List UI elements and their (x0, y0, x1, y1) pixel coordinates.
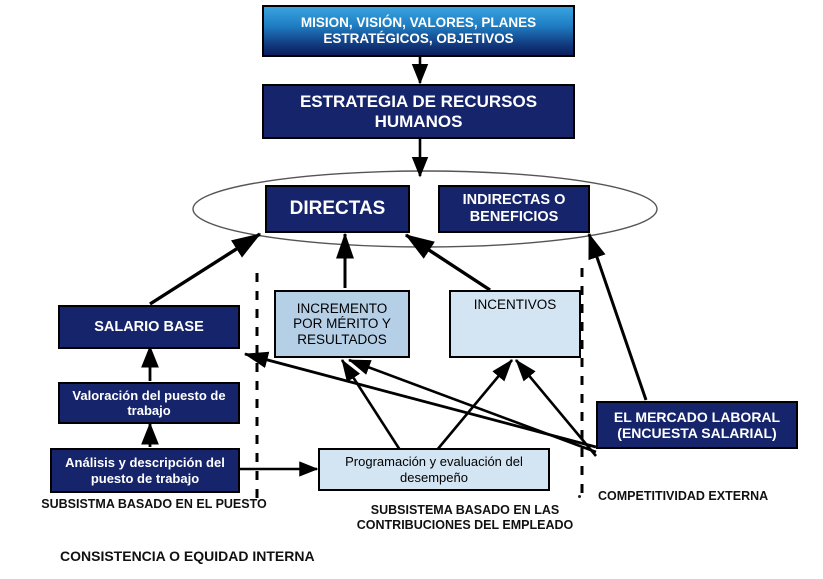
caption-competitividad: COMPETITIVIDAD EXTERNA (598, 489, 808, 504)
node-valoracion-label: Valoración del puesto de trabajo (66, 388, 232, 418)
caption-subsistema-puesto: SUBSISTMA BASADO EN EL PUESTO (36, 497, 272, 512)
node-mercado-laboral-label: EL MERCADO LABORAL (ENCUESTA SALARIAL) (603, 409, 791, 441)
arrow-mercado-indirectas (589, 234, 646, 400)
diagram-canvas: MISION, VISIÓN, VALORES, PLANES ESTRATÉG… (0, 0, 823, 579)
node-indirectas[interactable]: INDIRECTAS O BENEFICIOS (438, 185, 590, 233)
node-incremento[interactable]: INCREMENTO POR MÉRITO Y RESULTADOS (274, 290, 410, 358)
node-mision-label: MISION, VISIÓN, VALORES, PLANES ESTRATÉG… (274, 15, 563, 46)
arrow-programacion-incremento (342, 360, 400, 450)
node-programacion[interactable]: Programación y evaluación del desempeño (318, 448, 550, 491)
arrow-mercado-incremento (349, 360, 596, 452)
caption-competitividad-text: COMPETITIVIDAD EXTERNA (598, 489, 768, 503)
node-estrategia[interactable]: ESTRATEGIA DE RECURSOS HUMANOS (262, 84, 575, 139)
node-incentivos-label: INCENTIVOS (474, 297, 557, 313)
caption-subsistema-puesto-text: SUBSISTMA BASADO EN EL PUESTO (41, 497, 267, 511)
node-mision[interactable]: MISION, VISIÓN, VALORES, PLANES ESTRATÉG… (262, 5, 575, 57)
node-salario-base[interactable]: SALARIO BASE (58, 305, 240, 349)
node-valoracion[interactable]: Valoración del puesto de trabajo (58, 382, 240, 424)
node-mercado-laboral[interactable]: EL MERCADO LABORAL (ENCUESTA SALARIAL) (596, 401, 798, 449)
node-indirectas-label: INDIRECTAS O BENEFICIOS (446, 192, 582, 226)
caption-subsistema-contribuciones: SUBSISTEMA BASADO EN LAS CONTRIBUCIONES … (340, 503, 590, 534)
arrow-incentivos-directas (406, 235, 490, 290)
caption-subsistema-contribuciones-text: SUBSISTEMA BASADO EN LAS CONTRIBUCIONES … (357, 503, 573, 532)
node-directas[interactable]: DIRECTAS (265, 185, 410, 233)
caption-consistencia: CONSISTENCIA O EQUIDAD INTERNA (60, 548, 360, 565)
arrow-salario-directas (150, 234, 260, 304)
node-directas-label: DIRECTAS (290, 198, 386, 220)
node-programacion-label: Programación y evaluación del desempeño (326, 454, 542, 484)
node-analisis[interactable]: Análisis y descripción del puesto de tra… (50, 448, 240, 493)
node-salario-base-label: SALARIO BASE (94, 319, 204, 336)
node-incentivos[interactable]: INCENTIVOS (449, 290, 581, 358)
node-analisis-label: Análisis y descripción del puesto de tra… (58, 455, 232, 485)
arrow-mercado-incentivos (516, 360, 596, 456)
bullet-competitividad-icon (578, 495, 581, 498)
arrow-mercado-salario (245, 354, 596, 447)
arrow-programacion-incentivos (437, 360, 512, 450)
node-incremento-label: INCREMENTO POR MÉRITO Y RESULTADOS (281, 301, 403, 348)
node-estrategia-label: ESTRATEGIA DE RECURSOS HUMANOS (274, 92, 563, 131)
caption-consistencia-text: CONSISTENCIA O EQUIDAD INTERNA (60, 548, 315, 564)
